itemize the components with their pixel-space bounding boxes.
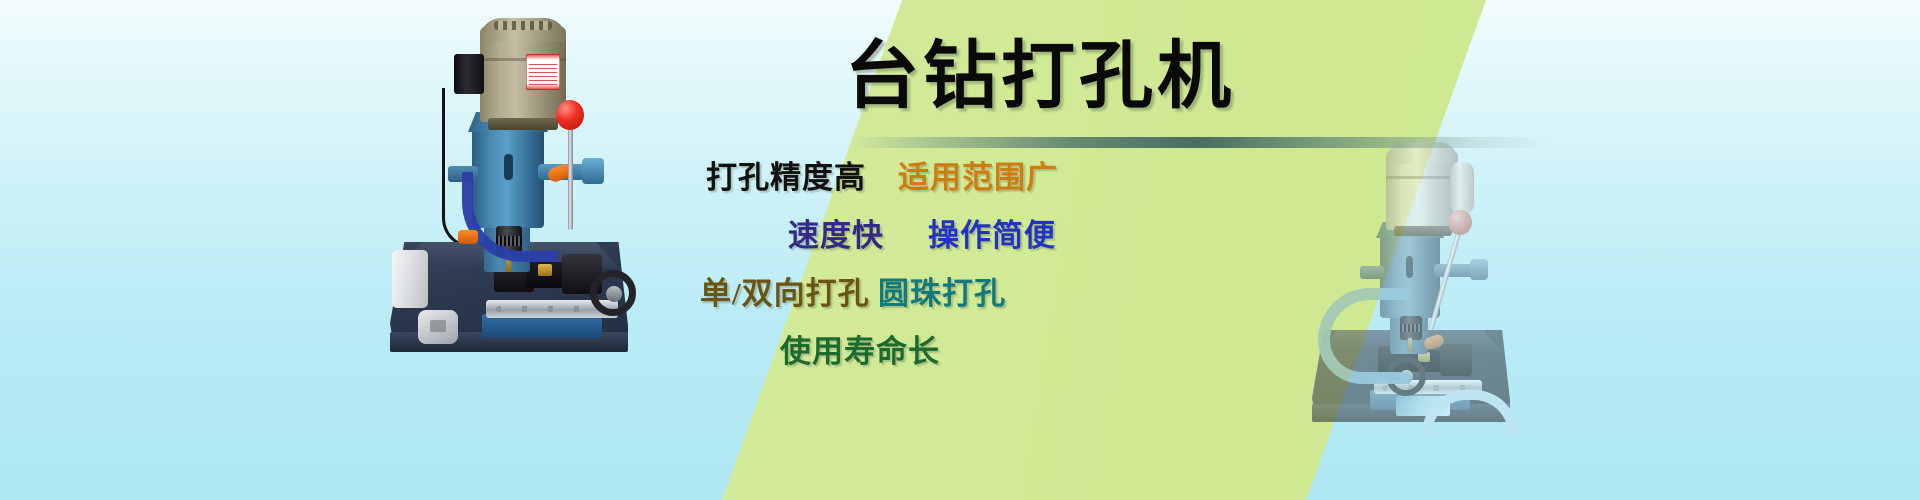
- side-arm-knob: [1470, 259, 1488, 280]
- brass-bushing: [538, 264, 552, 276]
- capacitor-box: [1450, 162, 1474, 214]
- feature-long-service-life: 使用寿命长: [780, 326, 940, 371]
- motor-foot: [488, 118, 558, 130]
- motor-vents: [494, 21, 552, 30]
- feed-lever-rod: [568, 118, 573, 230]
- slide-rail-holes: [496, 306, 608, 312]
- feed-lever-ball: [556, 100, 584, 130]
- feature-drilling-accuracy: 打孔精度高: [706, 152, 866, 197]
- foot-pedal-mark: [430, 320, 446, 332]
- title-underline-bar: [848, 137, 1548, 148]
- control-box: [392, 250, 428, 308]
- motor-band: [1386, 176, 1458, 179]
- feature-fast-speed: 速度快: [788, 210, 884, 255]
- side-arm-left: [1360, 266, 1384, 279]
- feature-single-dual-drilling: 单/双向打孔: [700, 268, 870, 313]
- feature-bead-drilling: 圆珠打孔: [878, 268, 1006, 313]
- handwheel-hub: [606, 286, 622, 302]
- clamp-right: [1440, 344, 1472, 376]
- feature-easy-operation: 操作简便: [928, 210, 1056, 255]
- side-arm-knob: [582, 158, 604, 184]
- product-banner: 台钻打孔机 打孔精度高 适用范围广 速度快 操作简便 单/双向打孔 圆珠打孔 使…: [0, 0, 1920, 500]
- right-machine-image: [1300, 140, 1522, 430]
- feed-lever-ball: [1448, 210, 1472, 235]
- coolant-hose-clip: [458, 230, 478, 244]
- motor-label-text: [529, 64, 557, 86]
- feature-wide-application: 适用范围广: [898, 152, 1058, 197]
- page-title: 台钻打孔机: [760, 40, 1320, 114]
- coolant-hose: [1318, 288, 1410, 384]
- gearbox-slot: [1406, 256, 1413, 278]
- motor-foot: [1394, 226, 1452, 236]
- left-machine-image: [376, 14, 644, 366]
- capacitor-box: [454, 54, 484, 94]
